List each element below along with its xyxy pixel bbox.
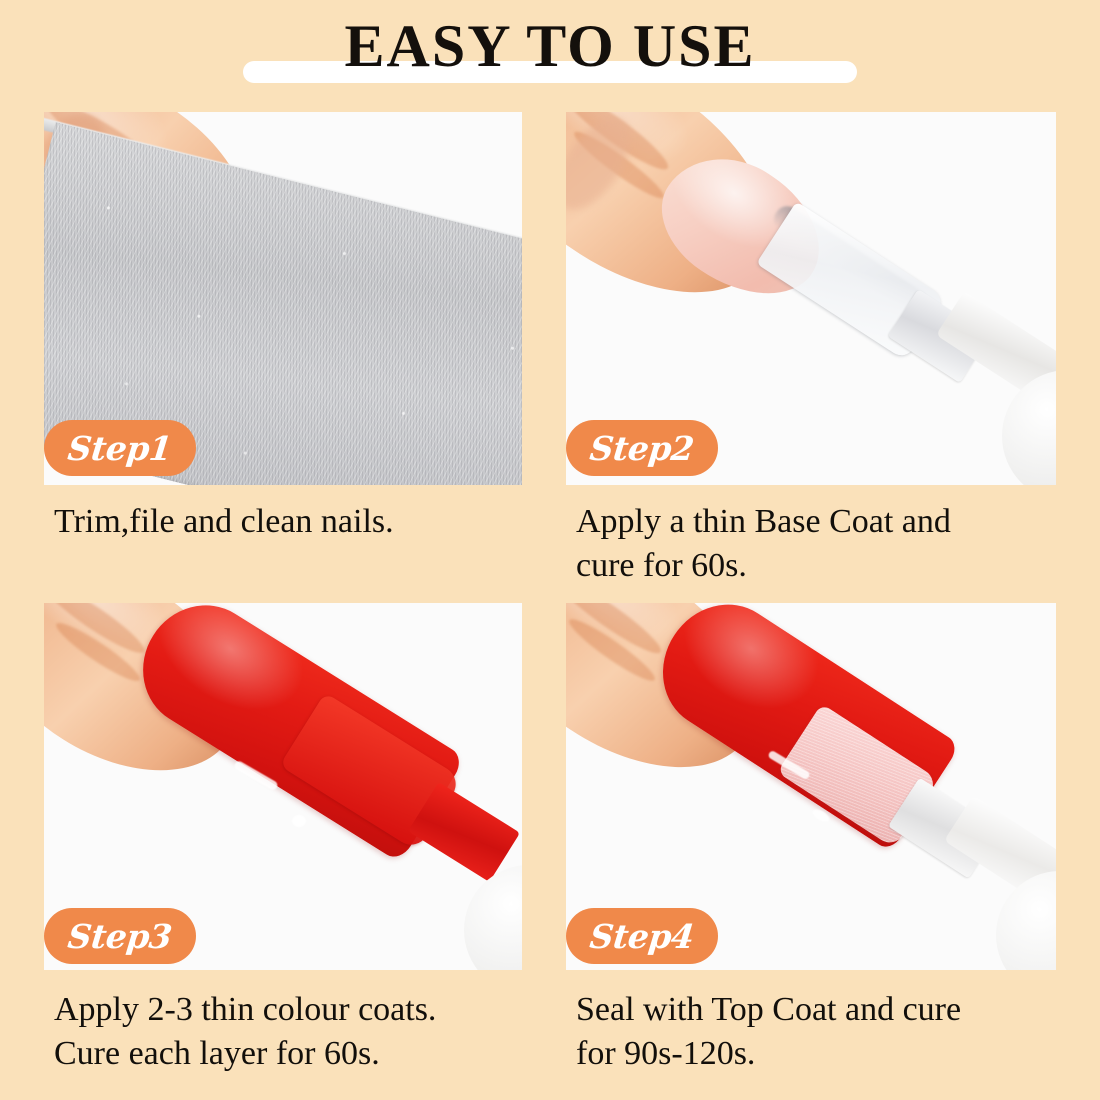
step-caption-4: Seal with Top Coat and cure for 90s-120s…: [576, 988, 1066, 1076]
bottle-cap: [1002, 370, 1056, 485]
step-badge-label: Step4: [588, 920, 695, 953]
step-badge-label: Step2: [588, 432, 695, 465]
step-caption-1: Trim,file and clean nails.: [54, 500, 524, 544]
steps-grid: Step1 Trim,file and clean nails. Step2 A…: [0, 0, 1100, 1100]
step-badge-4[interactable]: Step4: [566, 908, 718, 964]
step-badge-label: Step3: [66, 920, 173, 953]
step-badge-2[interactable]: Step2: [566, 420, 718, 476]
step-badge-1[interactable]: Step1: [44, 420, 196, 476]
gloss-highlight: [292, 815, 306, 827]
bottle-cap: [464, 865, 522, 970]
step-caption-2: Apply a thin Base Coat and cure for 60s.: [576, 500, 1066, 588]
bottle-cap: [996, 871, 1056, 970]
step-badge-label: Step1: [66, 432, 173, 465]
step-caption-3: Apply 2-3 thin colour coats. Cure each l…: [54, 988, 544, 1076]
step-badge-3[interactable]: Step3: [44, 908, 196, 964]
